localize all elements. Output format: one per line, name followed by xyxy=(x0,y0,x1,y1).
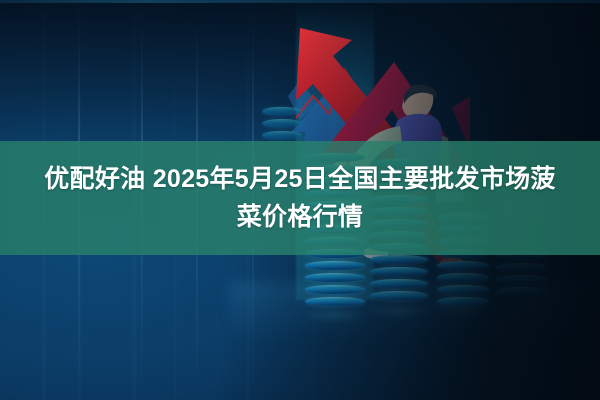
banner-top-edge xyxy=(0,0,600,3)
banner-title: 优配好油 2025年5月25日全国主要批发市场菠 菜价格行情 xyxy=(0,141,600,255)
banner-title-line-2: 菜价格行情 xyxy=(237,198,364,236)
news-banner: 优配好油 2025年5月25日全国主要批发市场菠 菜价格行情 xyxy=(0,0,600,400)
banner-title-line-1: 优配好油 2025年5月25日全国主要批发市场菠 xyxy=(44,160,555,198)
